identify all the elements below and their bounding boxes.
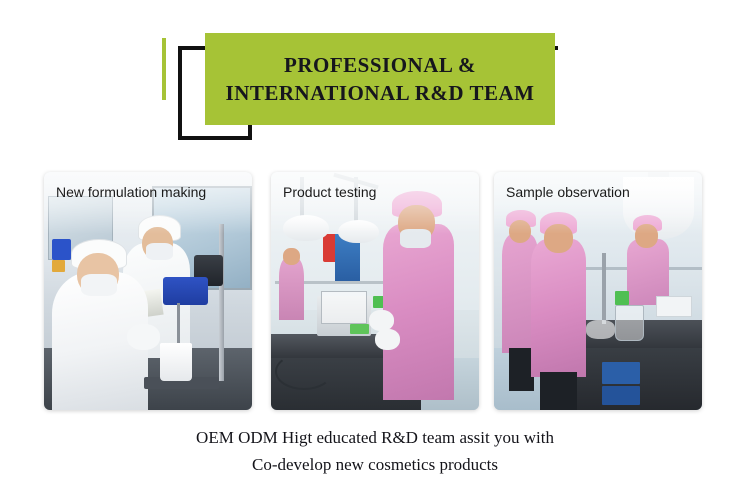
label-backdrop — [271, 172, 479, 234]
card-label-sample-observation: Sample observation — [506, 184, 692, 202]
label-backdrop — [494, 172, 702, 234]
header-banner: PROFESSIONAL & INTERNATIONAL R&D TEAM — [0, 0, 750, 160]
label-backdrop — [44, 172, 252, 234]
card-label-product-testing: Product testing — [283, 184, 469, 202]
caption-line-2: Co-develop new cosmetics products — [0, 451, 750, 478]
caption-block: OEM ODM Higt educated R&D team assit you… — [0, 424, 750, 478]
photo-card-sample-observation[interactable]: Sample observation — [494, 172, 702, 410]
green-accent-bar — [162, 38, 166, 100]
card-label-new-formulation-making: New formulation making — [56, 184, 242, 202]
page-title: PROFESSIONAL & INTERNATIONAL R&D TEAM — [226, 51, 535, 108]
photo-card-product-testing[interactable]: Product testing — [271, 172, 479, 410]
caption-line-1: OEM ODM Higt educated R&D team assit you… — [0, 424, 750, 451]
photo-card-row: New formulation making — [0, 172, 750, 412]
photo-card-new-formulation-making[interactable]: New formulation making — [44, 172, 252, 410]
green-title-banner: PROFESSIONAL & INTERNATIONAL R&D TEAM — [205, 33, 555, 125]
